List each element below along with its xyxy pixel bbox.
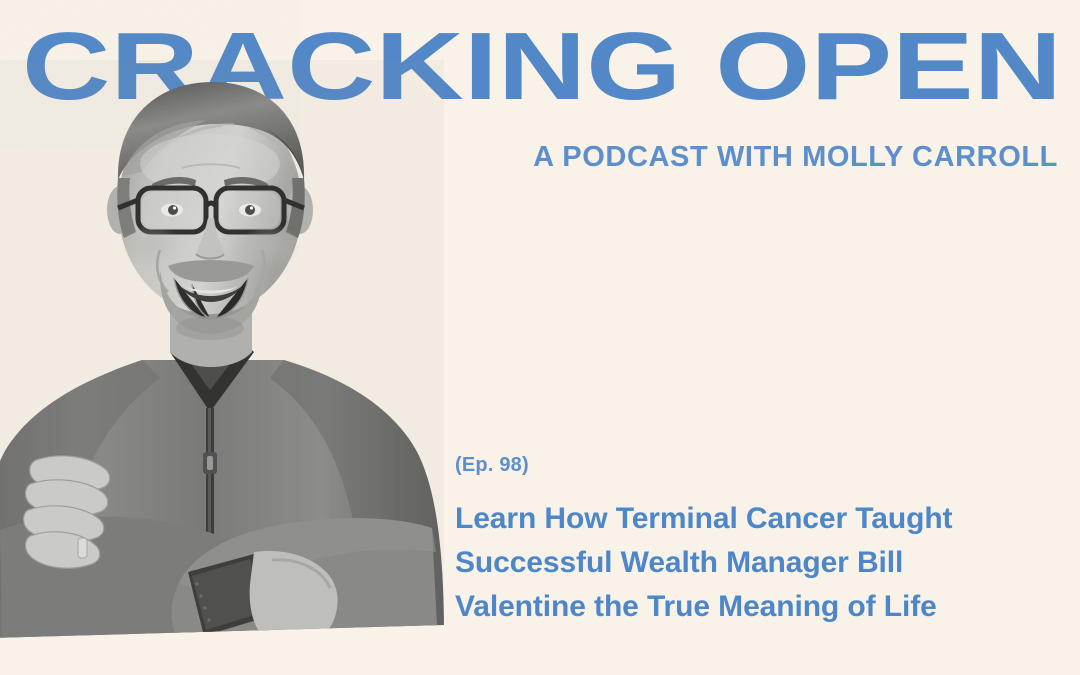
episode-title: Learn How Terminal Cancer Taught Success… bbox=[455, 497, 1055, 629]
episode-info: (Ep. 98) Learn How Terminal Cancer Taugh… bbox=[455, 455, 1055, 629]
episode-number: (Ep. 98) bbox=[455, 455, 1055, 475]
episode-title-line-3: Valentine the True Meaning of Life bbox=[455, 585, 1055, 629]
podcast-episode-graphic: CRACKING OPEN A PODCAST WITH MOLLY CARRO… bbox=[0, 0, 1080, 675]
episode-title-line-1: Learn How Terminal Cancer Taught bbox=[455, 497, 1055, 541]
episode-title-line-2: Successful Wealth Manager Bill bbox=[455, 541, 1055, 585]
show-subtitle: A PODCAST WITH MOLLY CARROLL bbox=[533, 143, 1058, 172]
guest-portrait bbox=[0, 60, 444, 640]
